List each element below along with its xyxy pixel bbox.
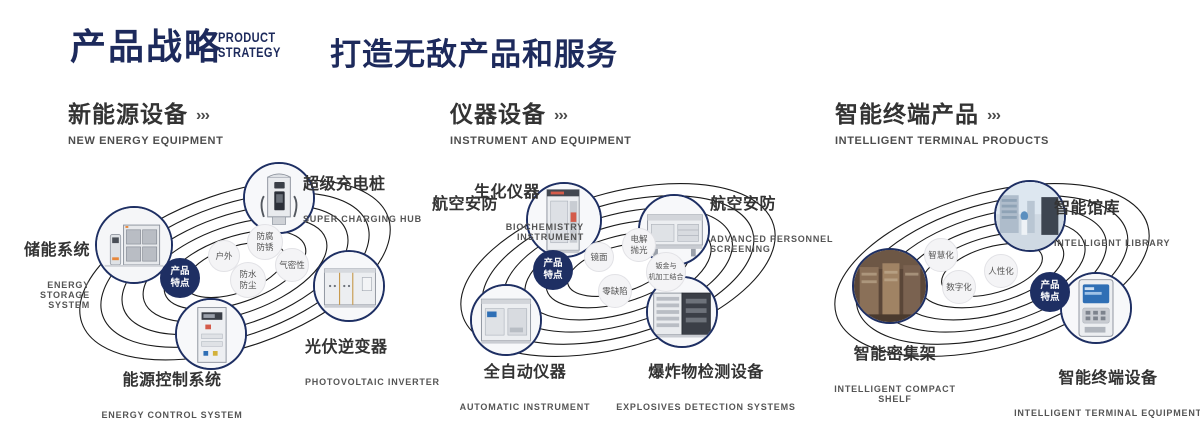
cluster-intelligent-terminal: 智能馆库 INTELLIGENT LIBRARY — [812, 150, 1172, 390]
feature-bubble-mirror[interactable]: 镜面 — [584, 242, 614, 272]
feature-bubble-zero-defect[interactable]: 零缺陷 — [598, 274, 632, 308]
label-cn: 储能系统 — [0, 236, 90, 260]
feature-bubble-airtight[interactable]: 气密性 — [275, 248, 309, 282]
section-title-en-new-energy: NEW ENERGY EQUIPMENT — [68, 135, 223, 147]
section-heading-new-energy: 新能源设备››› NEW ENERGY EQUIPMENT — [68, 95, 223, 147]
label-en: INTELLIGENT TERMINAL EQUIPMENT — [1008, 408, 1200, 418]
label-energy-control-system: 能源控制系统 ENERGY CONTROL SYSTEM — [77, 348, 267, 422]
chevron-right-icon: ››› — [554, 107, 567, 125]
chevron-right-icon: ››› — [987, 107, 1000, 125]
label-intelligent-compact-shelf: 智能密集架 INTELLIGENT COMPACT SHELF — [800, 322, 990, 422]
feature-bubble-waterproof[interactable]: 防水 防尘 — [230, 262, 266, 298]
page-subtitle: 打造无敌产品和服务 — [330, 29, 618, 74]
label-cn: 能源控制系统 — [77, 366, 267, 390]
battery-cabinet-photo — [97, 208, 171, 282]
page-header: 产品战略 PRODUCT STRATEGY 打造无敌产品和服务 — [0, 0, 1200, 90]
label-en: PHOTOVOLTAIC INVERTER — [305, 377, 445, 387]
chevron-right-icon: ››› — [196, 107, 209, 125]
section-title-cn-intelligent: 智能终端产品››› — [835, 95, 1049, 129]
section-heading-intelligent-terminal: 智能终端产品››› INTELLIGENT TERMINAL PRODUCTS — [835, 95, 1049, 147]
label-cn: 智能馆库 — [1054, 194, 1184, 218]
section-title-en-intelligent: INTELLIGENT TERMINAL PRODUCTS — [835, 135, 1049, 147]
label-explosives-detection-systems: 爆炸物检测设备 EXPLOSIVES DETECTION SYSTEMS — [606, 340, 806, 422]
feature-bubble-digital[interactable]: 数字化 — [942, 270, 976, 304]
label-en: INTELLIGENT COMPACT SHELF — [800, 384, 990, 404]
section-title-text: 新能源设备 — [68, 101, 188, 127]
label-cn: 生化仪器 — [474, 178, 584, 202]
label-en: ENERGY STORAGE SYSTEM — [0, 280, 90, 310]
node-intelligent-terminal-equipment[interactable] — [1060, 272, 1132, 344]
label-en: AUTOMATIC INSTRUMENT — [430, 402, 620, 412]
section-title-en-instrument: INSTRUMENT AND EQUIPMENT — [450, 135, 631, 147]
feature-bubble-key-intelligent[interactable]: 产品 特点 — [1030, 272, 1070, 312]
page-title-english: PRODUCT STRATEGY — [218, 30, 281, 60]
node-photovoltaic-inverter[interactable] — [313, 250, 385, 322]
label-en: INTELLIGENT LIBRARY — [1054, 238, 1184, 248]
label-cn: 爆炸物检测设备 — [606, 358, 806, 382]
label-biochemistry-instrument: 生化仪器 BIOCHEMISTRY INSTRUMENT — [474, 160, 584, 260]
page-title: 产品战略 — [70, 26, 222, 68]
section-title-cn-new-energy: 新能源设备››› — [68, 95, 223, 129]
label-en: EXPLOSIVES DETECTION SYSTEMS — [606, 402, 806, 412]
label-intelligent-terminal-equipment: 智能终端设备 INTELLIGENT TERMINAL EQUIPMENT — [1008, 346, 1200, 422]
inverter-cabinet-photo — [315, 252, 383, 320]
label-en: BIOCHEMISTRY INSTRUMENT — [474, 222, 584, 242]
label-cn: 全自动仪器 — [430, 358, 620, 382]
label-en: ENERGY CONTROL SYSTEM — [77, 410, 267, 420]
compact-shelf-photo — [854, 250, 926, 322]
feature-bubble-key-new-energy[interactable]: 产品 特点 — [160, 258, 200, 298]
cluster-new-energy: 储能系统 ENERGY STORAGE SYSTEM 超级充电桩 SUPER C… — [55, 150, 415, 390]
label-photovoltaic-inverter: 光伏逆变器 PHOTOVOLTAIC INVERTER — [305, 315, 445, 405]
label-intelligent-library: 智能馆库 INTELLIGENT LIBRARY — [1054, 176, 1184, 266]
section-title-cn-instrument: 仪器设备››› — [450, 95, 631, 129]
section-title-text: 仪器设备 — [450, 101, 546, 127]
label-automatic-instrument: 全自动仪器 AUTOMATIC INSTRUMENT — [430, 340, 620, 422]
feature-bubble-smart[interactable]: 智慧化 — [924, 238, 958, 272]
kiosk-terminal-photo — [1062, 274, 1130, 342]
feature-bubble-sheetmetal-machining[interactable]: 钣金与 机加工结合 — [646, 252, 686, 292]
product-strategy-infographic: 产品战略 PRODUCT STRATEGY 打造无敌产品和服务 新能源设备›››… — [0, 0, 1200, 422]
section-heading-instrument: 仪器设备››› INSTRUMENT AND EQUIPMENT — [450, 95, 631, 147]
node-intelligent-compact-shelf[interactable] — [852, 248, 928, 324]
label-cn: 智能密集架 — [800, 340, 990, 364]
label-cn: 智能终端设备 — [1008, 364, 1200, 388]
feature-bubble-key-instrument[interactable]: 产品 特点 — [533, 250, 573, 290]
cluster-instrument: 航空安防 生化仪器 BIOCHEMISTRY INSTRUMENT 航空安防 — [438, 150, 798, 390]
label-energy-storage-system: 储能系统 ENERGY STORAGE SYSTEM — [0, 218, 90, 328]
feature-bubble-humanized[interactable]: 人性化 — [984, 254, 1018, 288]
label-cn: 光伏逆变器 — [305, 333, 445, 357]
section-title-text: 智能终端产品 — [835, 101, 979, 127]
